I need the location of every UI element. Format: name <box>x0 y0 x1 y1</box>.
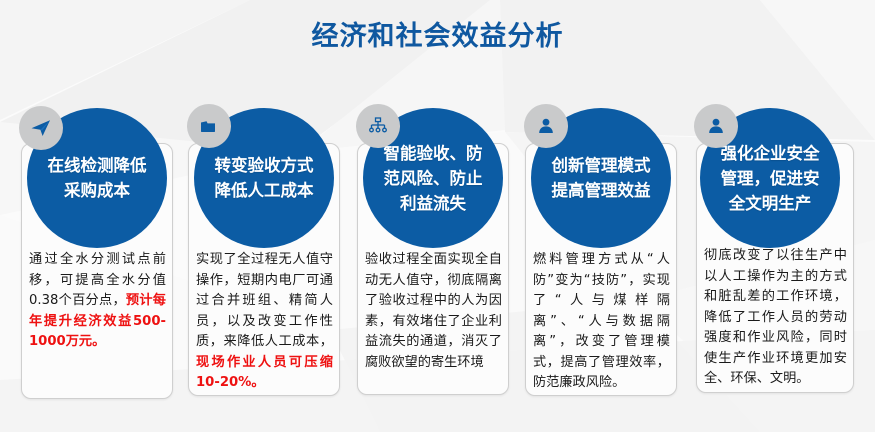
card-2-icon-badge <box>187 104 231 148</box>
card-3-heading: 智能验收、防 范风险、防止 利益流失 <box>380 141 487 216</box>
card-3-icon-badge <box>356 104 400 148</box>
card-5-heading: 强化企业安全 管理，促进安 全文明生产 <box>717 141 824 216</box>
user-icon <box>704 114 728 138</box>
sitemap-icon <box>366 114 390 138</box>
card-4-icon-badge <box>524 104 568 148</box>
page-title: 经济和社会效益分析 <box>0 14 875 53</box>
card-1-heading: 在线检测降低 采购成本 <box>44 153 151 203</box>
card-2-heading: 转变验收方式 降低人工成本 <box>211 153 318 203</box>
card-4-body: 燃料管理方式从“人防”变为“技防”，实现了“人与煤样隔离”、“人与数据隔离”，改… <box>533 250 670 394</box>
card-2-body-highlight: 现场作业人员可压缩10-20%。 <box>196 355 333 391</box>
folder-icon <box>197 114 221 138</box>
card-2-body: 实现了全过程无人值守操作，短期内电厂可通过合并班组、精简人员，以及改变工作性质，… <box>196 250 333 394</box>
card-4-heading: 创新管理模式 提高管理效益 <box>548 153 655 203</box>
slide-canvas: 经济和社会效益分析 通过全水分测试点前移，可提高全水分值0.38个百分点，预计每… <box>0 0 875 432</box>
card-3-body: 验收过程全面实现全自动无人值守，彻底隔离了验收过程中的人为因素，有效堵住了企业利… <box>365 250 502 373</box>
card-5-body: 彻底改变了以往生产中以人工操作为主的方式和脏乱差的工作环境，降低了工作人员的劳动… <box>704 246 847 390</box>
card-2-body-plain: 实现了全过程无人值守操作，短期内电厂可通过合并班组、精简人员，以及改变工作性质，… <box>196 252 333 349</box>
user-icon <box>534 114 558 138</box>
paper-plane-icon <box>29 116 53 140</box>
card-5-body-plain: 彻底改变了以往生产中以人工操作为主的方式和脏乱差的工作环境，降低了工作人员的劳动… <box>704 248 847 386</box>
cards-row: 通过全水分测试点前移，可提高全水分值0.38个百分点，预计每年提升经济效益500… <box>0 0 875 432</box>
card-4-body-plain: 燃料管理方式从“人防”变为“技防”，实现了“人与煤样隔离”、“人与数据隔离”，改… <box>533 252 670 390</box>
card-1-icon-badge <box>19 106 63 150</box>
card-1-body: 通过全水分测试点前移，可提高全水分值0.38个百分点，预计每年提升经济效益500… <box>29 250 166 353</box>
card-5-icon-badge <box>694 104 738 148</box>
card-3-body-plain: 验收过程全面实现全自动无人值守，彻底隔离了验收过程中的人为因素，有效堵住了企业利… <box>365 252 502 370</box>
